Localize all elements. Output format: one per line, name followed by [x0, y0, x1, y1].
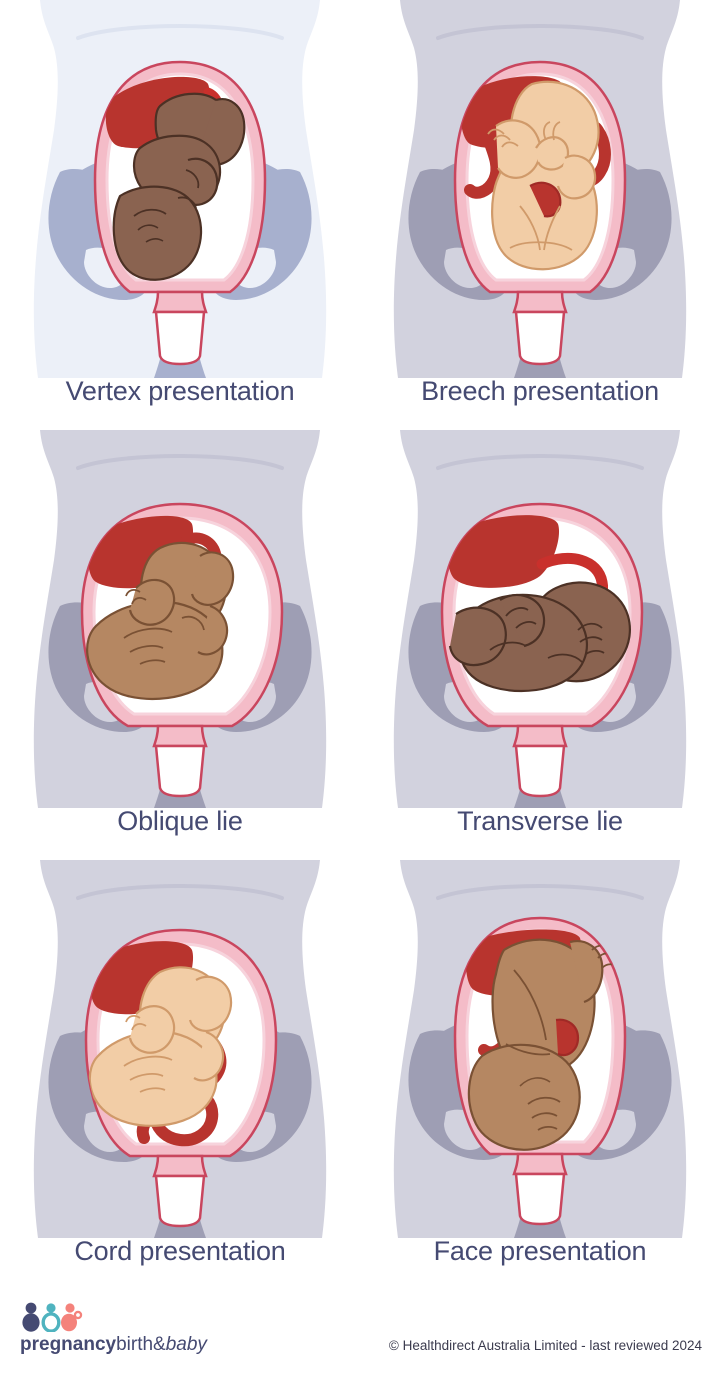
panel-caption-oblique: Oblique lie [117, 808, 242, 835]
logo-word-baby: baby [166, 1334, 207, 1355]
panel-face: Face presentation [360, 860, 720, 1290]
presentation-grid: Vertex presentation [0, 0, 720, 1290]
infographic-root: Vertex presentation [0, 0, 720, 1377]
panel-caption-vertex: Vertex presentation [66, 378, 295, 405]
copyright-notice: © Healthdirect Australia Limited - last … [389, 1338, 702, 1353]
panel-caption-transverse: Transverse lie [457, 808, 623, 835]
panel-cord: Cord presentation [0, 860, 360, 1290]
panel-vertex: Vertex presentation [0, 0, 360, 430]
logo-wordmark: pregnancybirth&baby [20, 1335, 207, 1354]
panel-transverse: Transverse lie [360, 430, 720, 860]
illustration-oblique [0, 430, 360, 808]
brand-logo[interactable]: pregnancybirth&baby [20, 1302, 207, 1354]
panel-caption-breech: Breech presentation [421, 378, 659, 405]
illustration-vertex [0, 0, 360, 378]
panel-caption-face: Face presentation [434, 1238, 647, 1265]
panel-oblique: Oblique lie [0, 430, 360, 860]
panel-breech: Breech presentation [360, 0, 720, 430]
illustration-breech [360, 0, 720, 378]
footer: pregnancybirth&baby © Healthdirect Austr… [0, 1290, 720, 1377]
illustration-cord [0, 860, 360, 1238]
logo-word-birth: birth& [116, 1334, 166, 1355]
panel-caption-cord: Cord presentation [74, 1238, 285, 1265]
illustration-face [360, 860, 720, 1238]
logo-figures-icon [20, 1302, 84, 1332]
logo-word-pregnancy: pregnancy [20, 1334, 116, 1355]
illustration-transverse [360, 430, 720, 808]
